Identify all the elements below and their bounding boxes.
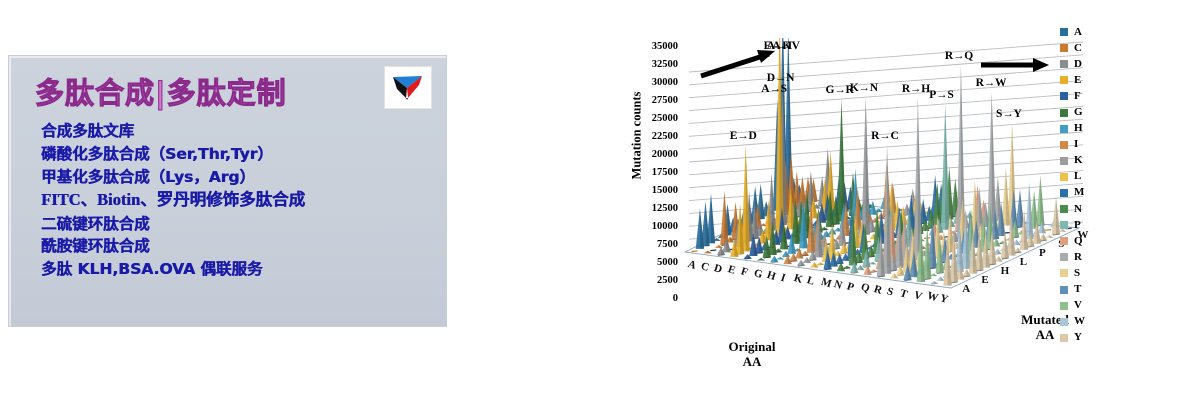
legend-item[interactable]: H [1060, 121, 1130, 137]
z-axis-tick-label: L [1020, 256, 1027, 268]
legend-swatch-icon [1060, 318, 1068, 326]
list-item: 多肽 KLH,BSA.OVA 偶联服务 [41, 258, 431, 281]
peak-annotation: S→Y [996, 108, 1022, 120]
legend-item-label: S [1074, 268, 1080, 279]
legend-item[interactable]: V [1060, 298, 1130, 314]
list-item: 合成多肽文库 [41, 120, 431, 143]
legend-swatch-icon [1060, 60, 1068, 68]
legend-swatch-icon [1060, 302, 1068, 310]
legend-swatch-icon [1060, 205, 1068, 213]
legend-swatch-icon [1060, 125, 1068, 133]
y-axis-tick-label: 2500 [620, 276, 678, 287]
legend-item-label: K [1074, 155, 1083, 166]
legend-item[interactable]: T [1060, 282, 1130, 298]
y-axis-tick-label: 20000 [620, 150, 678, 161]
peak-annotation: R→H [902, 83, 930, 95]
promo-title: 多肽合成|多肽定制 [35, 70, 287, 112]
y-axis-tick-label: 32500 [620, 60, 678, 71]
y-axis-tick-label: 35000 [620, 42, 678, 53]
peak-annotation: R→W [976, 77, 1007, 89]
legend-item[interactable]: K [1060, 153, 1130, 169]
legend-swatch-icon [1060, 173, 1068, 181]
legend-item[interactable]: C [1060, 40, 1130, 56]
legend-item[interactable]: M [1060, 185, 1130, 201]
y-axis-tick-label: 15000 [620, 186, 678, 197]
legend: ACDEFGHIKLMNPQRSTVWY [1060, 24, 1130, 346]
y-axis-tick-label: 0 [620, 294, 678, 305]
bar-cone-shade [841, 99, 845, 221]
legend-item[interactable]: I [1060, 137, 1130, 153]
list-item: 甲基化多肽合成（Lys，Arg） [41, 166, 431, 189]
legend-item-label: N [1074, 204, 1082, 215]
promo-panel: 多肽合成|多肽定制 合成多肽文库 磷酸化多肽合成（Ser,Thr,Tyr） 甲基… [8, 55, 447, 327]
peak-annotation: R→C [871, 130, 899, 142]
legend-item-label: T [1074, 284, 1081, 295]
peak-annotation: G→R [825, 84, 853, 96]
y-axis-ticks: 3500032500300002750025000225002000017500… [620, 42, 678, 294]
floor-tick [1045, 230, 1051, 231]
legend-item-label: M [1074, 187, 1084, 198]
legend-item[interactable]: S [1060, 265, 1130, 281]
legend-item[interactable]: R [1060, 249, 1130, 265]
legend-item[interactable]: G [1060, 104, 1130, 120]
legend-item-label: R [1074, 252, 1082, 263]
legend-item-label: E [1074, 75, 1081, 86]
legend-swatch-icon [1060, 109, 1068, 117]
legend-swatch-icon [1060, 157, 1068, 165]
list-item: FITC、Biotin、罗丹明修饰多肽合成 [41, 188, 431, 212]
legend-item-label: A [1074, 27, 1082, 38]
y-axis-tick-label: 27500 [620, 96, 678, 107]
list-item: 酰胺键环肽合成 [41, 235, 431, 258]
z-axis-tick-label: H [1001, 265, 1010, 277]
legend-item-label: L [1074, 171, 1081, 182]
y-axis-tick-label: 12500 [620, 204, 678, 215]
floor-tick [710, 250, 716, 251]
z-axis-tick-label: A [962, 283, 970, 295]
y-axis-tick-label: 30000 [620, 78, 678, 89]
legend-item-label: P [1074, 220, 1081, 231]
legend-swatch-icon [1060, 44, 1068, 52]
legend-swatch-icon [1060, 141, 1068, 149]
promo-service-list: 合成多肽文库 磷酸化多肽合成（Ser,Thr,Tyr） 甲基化多肽合成（Lys，… [41, 120, 431, 281]
trend-arrows [701, 50, 1049, 76]
legend-swatch-icon [1060, 334, 1068, 342]
legend-swatch-icon [1060, 28, 1068, 36]
y-axis-tick-label: 22500 [620, 132, 678, 143]
legend-item-label: Q [1074, 236, 1083, 247]
legend-item-label: C [1074, 43, 1082, 54]
y-axis-tick-label: 25000 [620, 114, 678, 125]
legend-item[interactable]: L [1060, 169, 1130, 185]
legend-item-label: W [1074, 316, 1085, 327]
legend-item[interactable]: Q [1060, 233, 1130, 249]
peak-annotation: A→V [772, 40, 800, 52]
bar-cone-shade [866, 97, 870, 235]
peak-annotation: A→S [761, 83, 787, 95]
peak-annotation: E→D [730, 130, 757, 142]
y-axis-tick-label: 10000 [620, 222, 678, 233]
legend-item[interactable]: E [1060, 72, 1130, 88]
legend-item[interactable]: D [1060, 56, 1130, 72]
legend-swatch-icon [1060, 221, 1068, 229]
legend-item-label: I [1074, 139, 1078, 150]
legend-swatch-icon [1060, 76, 1068, 84]
mutation-counts-3d-chart: Mutation counts 350003250030000275002500… [575, 18, 1195, 386]
bar-cone-shade [761, 184, 765, 219]
legend-swatch-icon [1060, 286, 1068, 294]
legend-item-label: D [1074, 59, 1082, 70]
grid-line [689, 93, 1083, 123]
legend-item-label: F [1074, 91, 1081, 102]
bar-cone-shade [814, 178, 818, 202]
z-axis-tick-label: P [1039, 247, 1046, 259]
grid-line [689, 68, 1083, 98]
peak-annotation: D→N [767, 72, 795, 84]
y-axis-tick-label: 17500 [620, 168, 678, 179]
floor-tick [691, 251, 697, 252]
z-axis-tick-label: E [981, 274, 988, 286]
legend-item[interactable]: W [1060, 314, 1130, 330]
legend-swatch-icon [1060, 92, 1068, 100]
legend-item-label: V [1074, 300, 1082, 311]
company-logo [384, 66, 432, 109]
legend-swatch-icon [1060, 237, 1068, 245]
bar-series [696, 38, 1067, 286]
legend-swatch-icon [1060, 189, 1068, 197]
y-axis-tick-label: 7500 [620, 240, 678, 251]
legend-item-label: Y [1074, 332, 1082, 343]
company-chevron-logo-icon [385, 67, 429, 106]
grid-line [689, 81, 1083, 111]
peak-annotation: R→Q [945, 50, 973, 62]
list-item: 二硫键环肽合成 [41, 213, 431, 236]
legend-item[interactable]: N [1060, 201, 1130, 217]
legend-item-label: G [1074, 107, 1083, 118]
bar-cone-shade [711, 193, 715, 243]
x-axis-title: OriginalAA [697, 340, 807, 370]
legend-item[interactable]: Y [1060, 330, 1130, 346]
peak-annotation: P→S [929, 89, 953, 101]
legend-item[interactable]: P [1060, 217, 1130, 233]
list-item: 磷酸化多肽合成（Ser,Thr,Tyr） [41, 143, 431, 166]
legend-swatch-icon [1060, 269, 1068, 277]
legend-item-label: H [1074, 123, 1083, 134]
bar-cone-shade [945, 104, 949, 229]
legend-item[interactable]: A [1060, 24, 1130, 40]
legend-swatch-icon [1060, 253, 1068, 261]
legend-item[interactable]: F [1060, 88, 1130, 104]
y-axis-tick-label: 5000 [620, 258, 678, 269]
bar-cone-shade [1040, 176, 1044, 226]
